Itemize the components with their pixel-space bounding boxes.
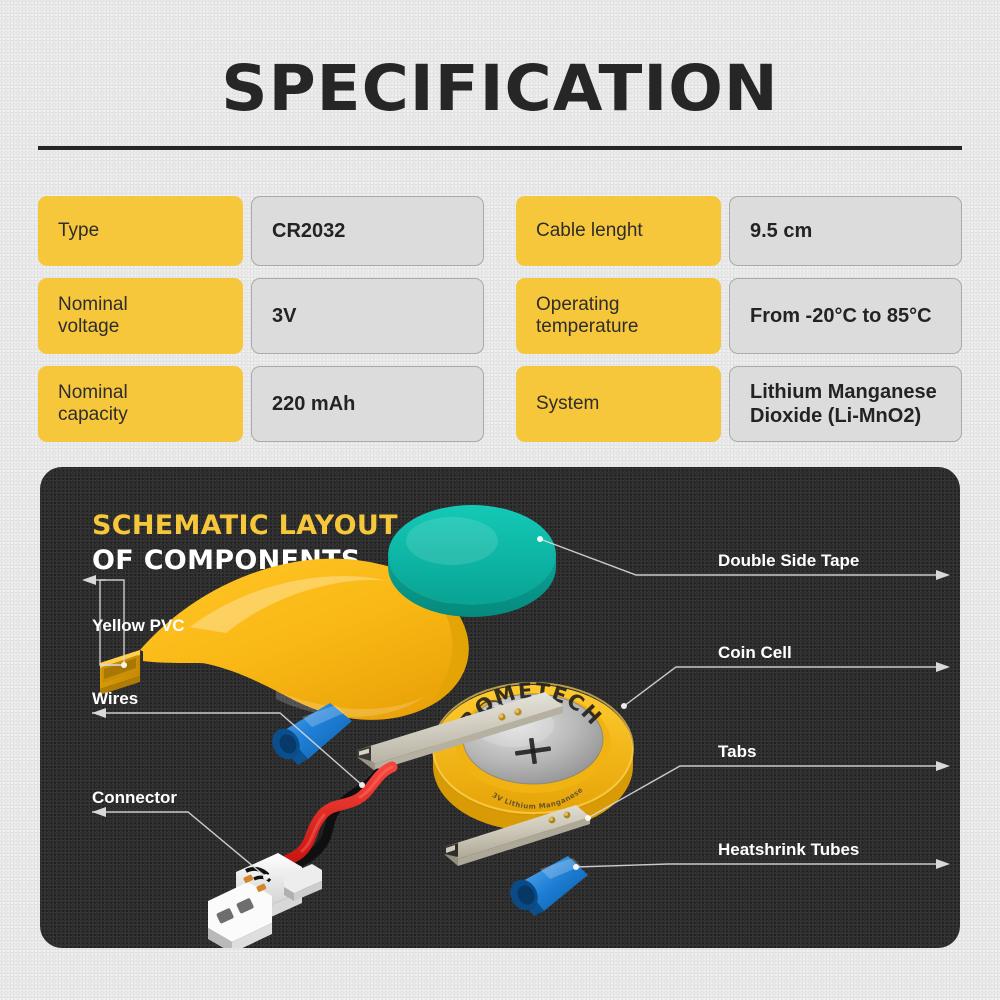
heatshrink-tube-upper-graphic [267, 703, 352, 765]
spec-label: Type [38, 196, 243, 266]
spec-value: 220 mAh [251, 366, 484, 442]
callout-label-double-side-tape: Double Side Tape [718, 551, 859, 571]
spec-row-operating-temperature: Operating temperature From -20°C to 85°C [516, 278, 962, 354]
spec-label: Nominal capacity [38, 366, 243, 442]
spec-row-nominal-capacity: Nominal capacity 220 mAh [38, 366, 484, 442]
schematic-panel: SCHEMATIC LAYOUT OF COMPONENTS [40, 467, 960, 948]
spec-label: Nominal voltage [38, 278, 243, 354]
title-divider [38, 146, 962, 150]
specification-table: Type CR2032 Cable lenght 9.5 cm Nominal … [38, 196, 962, 442]
spec-value: From -20°C to 85°C [729, 278, 962, 354]
callout-label-tabs: Tabs [718, 742, 756, 762]
page-title: SPECIFICATION [0, 52, 1000, 125]
spec-row-type: Type CR2032 [38, 196, 484, 266]
spec-row-nominal-voltage: Nominal voltage 3V [38, 278, 484, 354]
callout-label-connector: Connector [92, 788, 177, 808]
spec-label: Cable lenght [516, 196, 721, 266]
spec-value: CR2032 [251, 196, 484, 266]
double-side-tape-graphic [388, 505, 556, 617]
spec-row-cable-lenght: Cable lenght 9.5 cm [516, 196, 962, 266]
spec-label: Operating temperature [516, 278, 721, 354]
spec-label: System [516, 366, 721, 442]
spec-value: 9.5 cm [729, 196, 962, 266]
callout-label-yellow-pvc: Yellow PVC [92, 616, 185, 636]
exploded-component-diagram: ROMETECH 3V Lithium Manganese RT [40, 467, 960, 948]
spec-row-system: System Lithium Manganese Dioxide (Li-MnO… [516, 366, 962, 442]
callout-label-heatshrink-tubes: Heatshrink Tubes [718, 840, 859, 860]
spec-value: Lithium Manganese Dioxide (Li-MnO2) [729, 366, 962, 442]
callout-label-coin-cell: Coin Cell [718, 643, 792, 663]
spec-value: 3V [251, 278, 484, 354]
connector-graphic [208, 853, 322, 948]
callout-label-wires: Wires [92, 689, 138, 709]
